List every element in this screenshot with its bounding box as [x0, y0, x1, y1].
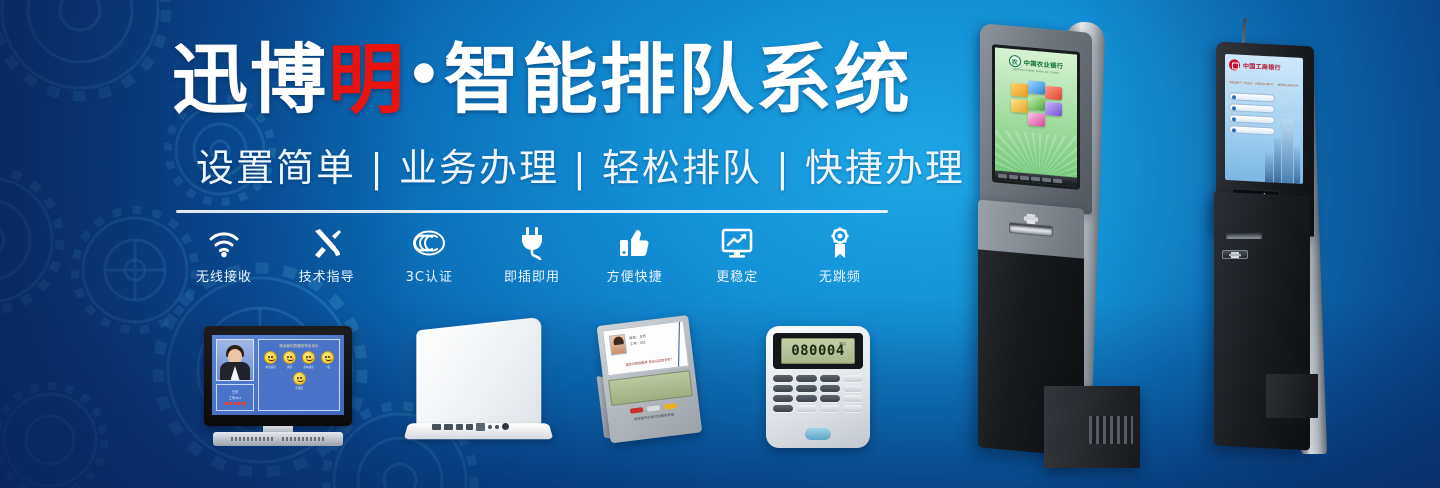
service-tile[interactable] — [1045, 102, 1062, 116]
rating-stars — [225, 402, 246, 405]
title-separator-dot: • — [406, 43, 444, 108]
kiosk1-head: 农 中国农业银行 AGRICULTURAL BANK OF CHINA — [980, 23, 1092, 215]
tools-icon — [310, 226, 344, 260]
keypad-key[interactable] — [796, 385, 816, 392]
feature-item-support: 技术指导 — [279, 226, 375, 285]
keypad-key[interactable] — [820, 405, 840, 412]
kiosk1-service-tiles[interactable] — [1003, 78, 1069, 134]
kiosk1-screen-rays — [995, 129, 1080, 177]
rating-face-caption: 满意 — [287, 365, 292, 369]
monitor-stand-base — [213, 432, 343, 446]
kiosk1-screen[interactable]: 农 中国农业银行 AGRICULTURAL BANK OF CHINA — [992, 44, 1080, 190]
keypad-key[interactable] — [796, 375, 816, 382]
evaluator-id-card: 姓名：王芳 工号：001 请您对我的服务 作出公正的评价！ — [602, 321, 689, 377]
wifi-icon — [207, 226, 241, 260]
feature-label: 更稳定 — [716, 266, 758, 285]
staff-name-box: 王芳 工号001 — [216, 384, 254, 411]
rating-face[interactable]: 非常满意 — [264, 351, 277, 369]
abc-bank-logo-icon: 农 — [1009, 55, 1021, 68]
staff-id: 工号001 — [229, 396, 242, 400]
rating-face-caption: 非常满意 — [265, 365, 275, 369]
kiosk1-base — [1044, 386, 1140, 468]
evaluator-staff-photo — [609, 334, 627, 356]
keypad-key[interactable] — [843, 395, 863, 402]
evaluator-button-average[interactable] — [646, 405, 660, 412]
keypad-key[interactable] — [820, 385, 840, 392]
kiosk2-tagline-2: 请您耐心等候叫号 — [1278, 84, 1299, 88]
evaluator-card-line3: 请您对我的服务 — [625, 360, 648, 367]
monitor-chart-icon — [720, 226, 754, 260]
feature-label: 技术指导 — [299, 266, 355, 285]
rating-face[interactable]: 不满意 — [293, 372, 306, 390]
page-subtitle: 设置简单 | 业务办理 | 轻松排队 | 快捷办理 — [196, 148, 896, 190]
staff-name: 王芳 — [232, 390, 239, 394]
kiosk1-vent — [1089, 416, 1133, 444]
kiosk2-bank-name: 中国工商银行 — [1243, 61, 1281, 72]
product-desk-evaluator: 姓名：王芳 工号：001 请您对我的服务 作出公正的评价！ 请按键评价我们的服务… — [589, 314, 714, 454]
rating-face-caption: 基本满意 — [303, 365, 313, 369]
rating-face[interactable]: 一般 — [321, 351, 334, 369]
kiosk2-skyline-graphic — [1263, 108, 1301, 184]
feature-label: 无线接收 — [196, 266, 252, 285]
feature-list: 无线接收 技术指导 — [176, 226, 888, 290]
feature-item-nohopping: 无跳频 — [792, 226, 888, 285]
printer-icon — [1022, 210, 1040, 222]
feature-label: 无跳频 — [819, 266, 861, 285]
ticket-dispenser-slot[interactable] — [1009, 222, 1053, 237]
keypad-key[interactable] — [796, 405, 816, 412]
power-plug-icon — [515, 226, 549, 260]
keypad-key[interactable] — [773, 395, 793, 402]
product-showcase: 王芳 工号001 请对我们的服务作出评价 非常满意 满意 基本满意 — [196, 318, 896, 468]
rating-face[interactable]: 基本满意 — [302, 351, 315, 369]
keypad-key[interactable] — [773, 405, 793, 412]
feature-item-ccc: 3C认证 — [381, 226, 477, 285]
host-body — [416, 317, 541, 430]
kiosk-queue-ticket-abc: 农 中国农业银行 AGRICULTURAL BANK OF CHINA — [962, 14, 1172, 480]
keypad-lcd: 窗口 080004 — [781, 338, 855, 364]
service-tile[interactable] — [1028, 96, 1045, 110]
keypad-call-button[interactable] — [805, 428, 831, 440]
rating-face[interactable]: 满意 — [283, 351, 296, 369]
evaluator-card-line1: 姓名：王芳 — [629, 334, 646, 340]
keypad-lcd-value: 080004 — [791, 343, 845, 359]
rating-face-caption: 一般 — [325, 365, 330, 369]
feature-item-wireless: 无线接收 — [176, 226, 272, 285]
kiosk2-screen[interactable]: 中国工商银行 请您选择下一项业务，办理业务请取号 请您耐心等候叫号 — [1225, 54, 1303, 184]
keypad-lcd-label: 窗口 — [839, 341, 846, 346]
feature-item-convenient: 方便快捷 — [587, 226, 683, 285]
service-tile[interactable] — [1028, 112, 1045, 126]
keypad-key[interactable] — [843, 405, 863, 412]
service-tile[interactable] — [1011, 83, 1028, 97]
feature-label: 3C认证 — [406, 266, 453, 285]
product-evaluation-monitor: 王芳 工号001 请对我们的服务作出评价 非常满意 满意 基本满意 — [204, 326, 352, 446]
evaluator-button-satisfied[interactable] — [663, 403, 677, 410]
service-tile[interactable] — [1045, 86, 1062, 100]
rating-question: 请对我们的服务作出评价 — [279, 343, 319, 348]
feature-item-plugandplay: 即插即用 — [484, 226, 580, 285]
promotional-banner: 迅博明•智能排队系统 设置简单 | 业务办理 | 轻松排队 | 快捷办理 无线接… — [0, 0, 1440, 488]
keypad-key[interactable] — [773, 375, 793, 382]
icbc-bank-logo-icon — [1229, 59, 1240, 71]
award-medal-icon — [823, 226, 857, 260]
title-part-1: 迅博 — [172, 35, 328, 124]
evaluator-card-line2: 工号：001 — [630, 340, 646, 346]
keypad-key[interactable] — [796, 395, 816, 402]
product-wireless-host — [406, 324, 551, 448]
feature-label: 即插即用 — [504, 266, 560, 285]
product-calling-keypad: 窗口 080004 — [766, 326, 870, 448]
feature-item-stable: 更稳定 — [689, 226, 785, 285]
staff-photo — [216, 339, 254, 381]
keypad-body: 窗口 080004 — [766, 326, 870, 448]
keypad-key[interactable] — [820, 395, 840, 402]
kiosk2-ticket-slot[interactable] — [1226, 232, 1262, 239]
kiosk2-printer-label-icon — [1222, 250, 1248, 259]
kiosk2-tagline-1: 请您选择下一项业务，办理业务请取号 — [1229, 81, 1273, 86]
section-divider — [176, 210, 888, 213]
title-highlight: 明 — [328, 35, 406, 124]
kiosk1-printer-panel — [978, 199, 1084, 258]
kiosk1-bank-name: 中国农业银行 — [1024, 57, 1064, 69]
ccc-certification-icon — [412, 226, 446, 260]
service-tile[interactable] — [1011, 99, 1028, 113]
rating-panel: 请对我们的服务作出评价 非常满意 满意 基本满意 一般 不满意 — [258, 339, 340, 411]
evaluator-button-dissatisfied[interactable] — [629, 407, 643, 414]
title-part-2: 智能排队系统 — [444, 35, 912, 124]
keypad-key[interactable] — [820, 375, 840, 382]
evaluator-card-line4: 作出公正的评价！ — [648, 357, 674, 364]
staff-panel: 王芳 工号001 — [216, 339, 254, 411]
kiosk2-base-tray — [1266, 374, 1318, 418]
evaluator-frame: 姓名：王芳 工号：001 请您对我的服务 作出公正的评价！ 请按键评价我们的服务… — [597, 315, 703, 443]
monitor-bezel: 王芳 工号001 请对我们的服务作出评价 非常满意 满意 基本满意 — [204, 326, 352, 426]
service-tile[interactable] — [1028, 80, 1045, 94]
rating-face-caption: 不满意 — [295, 386, 303, 390]
thumbs-up-icon — [618, 226, 652, 260]
kiosk2-brand-row: 中国工商银行 — [1229, 59, 1299, 74]
host-port-row — [432, 422, 536, 431]
kiosk2-menu-item-personal[interactable] — [1229, 92, 1275, 102]
keypad-display-housing: 窗口 080004 — [773, 333, 863, 369]
monitor-screen: 王芳 工号001 请对我们的服务作出评价 非常满意 满意 基本满意 — [212, 335, 344, 415]
keypad-key[interactable] — [843, 375, 863, 382]
feature-label: 方便快捷 — [607, 266, 663, 285]
keypad-key[interactable] — [843, 385, 863, 392]
page-title: 迅博明•智能排队系统 — [172, 42, 902, 118]
evaluator-lcd — [608, 370, 693, 406]
rating-faces: 非常满意 满意 基本满意 一般 不满意 — [259, 351, 339, 390]
keypad-key[interactable] — [773, 385, 793, 392]
kiosk-queue-ticket-icbc: 中国工商银行 请您选择下一项业务，办理业务请取号 请您耐心等候叫号 — [1206, 18, 1396, 468]
keypad-keys[interactable] — [773, 375, 863, 412]
